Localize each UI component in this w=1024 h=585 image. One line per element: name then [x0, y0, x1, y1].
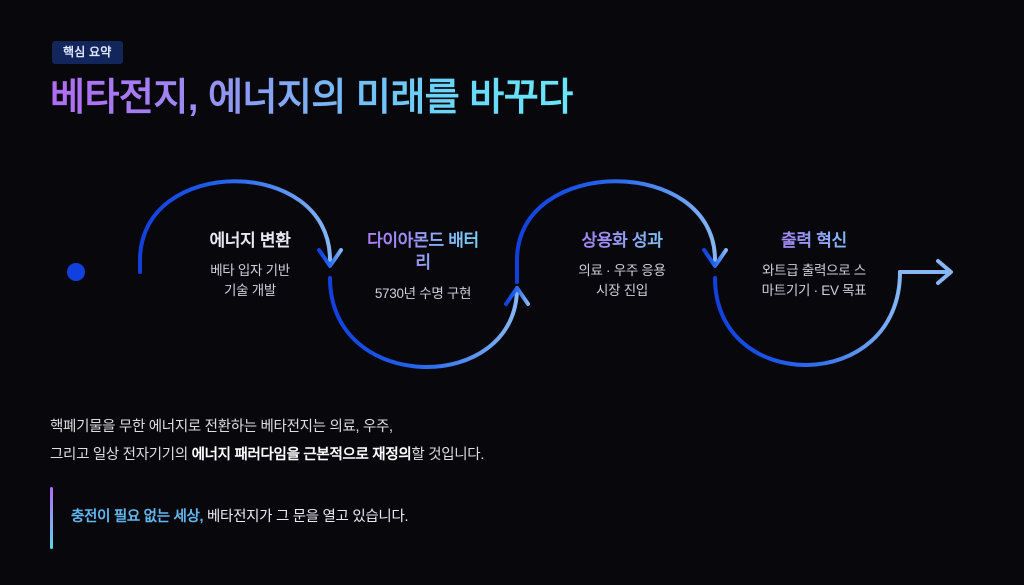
body-line-2-emphasis: 에너지 패러다임을 근본적으로 재정의 — [192, 447, 412, 463]
flow-step-3-desc: 의료 · 우주 응용 시장 진입 — [538, 261, 706, 301]
body-line-2-post: 할 것입니다. — [411, 447, 484, 463]
body-line-2: 그리고 일상 전자기기의 에너지 패러다임을 근본적으로 재정의할 것입니다. — [50, 441, 484, 469]
flow-step-1: 에너지 변환 베타 입자 기반 기술 개발 — [160, 230, 340, 301]
flow-step-2-desc: 5730년 수명 구현 — [348, 284, 498, 304]
quote-rest: 베타전지가 그 문을 열고 있습니다. — [203, 509, 408, 525]
flow-step-4-desc: 와트급 출력으로 스 마트기기 · EV 목표 — [728, 261, 900, 301]
flow-start-dot — [67, 263, 85, 281]
quote-text: 충전이 필요 없는 세상, 베타전지가 그 문을 열고 있습니다. — [71, 506, 408, 529]
page-title: 베타전지, 에너지의 미래를 바꾸다 — [50, 75, 573, 123]
flow-step-1-title: 에너지 변환 — [160, 230, 340, 252]
body-line-2-pre: 그리고 일상 전자기기의 — [50, 447, 192, 463]
flow-step-1-desc: 베타 입자 기반 기술 개발 — [160, 261, 340, 301]
flow-step-2: 다이아몬드 배터 리 5730년 수명 구현 — [348, 230, 498, 304]
flow-step-3: 상용화 성과 의료 · 우주 응용 시장 진입 — [538, 230, 706, 301]
quote-highlight: 충전이 필요 없는 세상, — [71, 509, 203, 525]
section-badge: 핵심 요약 — [52, 41, 123, 64]
flow-step-2-title: 다이아몬드 배터 리 — [348, 230, 498, 275]
body-paragraph: 핵폐기물을 무한 에너지로 전환하는 베타전지는 의료, 우주, 그리고 일상 … — [50, 413, 484, 470]
flow-step-4: 출력 혁신 와트급 출력으로 스 마트기기 · EV 목표 — [728, 230, 900, 301]
flow-step-3-title: 상용화 성과 — [538, 230, 706, 252]
flow-step-4-title: 출력 혁신 — [728, 230, 900, 252]
flow-diagram: 에너지 변환 베타 입자 기반 기술 개발 다이아몬드 배터 리 5730년 수… — [0, 160, 1024, 385]
quote-block: 충전이 필요 없는 세상, 베타전지가 그 문을 열고 있습니다. — [50, 487, 408, 549]
slide-root: 핵심 요약 베타전지, 에너지의 미래를 바꾸다 — [0, 0, 1024, 585]
body-line-1: 핵폐기물을 무한 에너지로 전환하는 베타전지는 의료, 우주, — [50, 413, 484, 441]
